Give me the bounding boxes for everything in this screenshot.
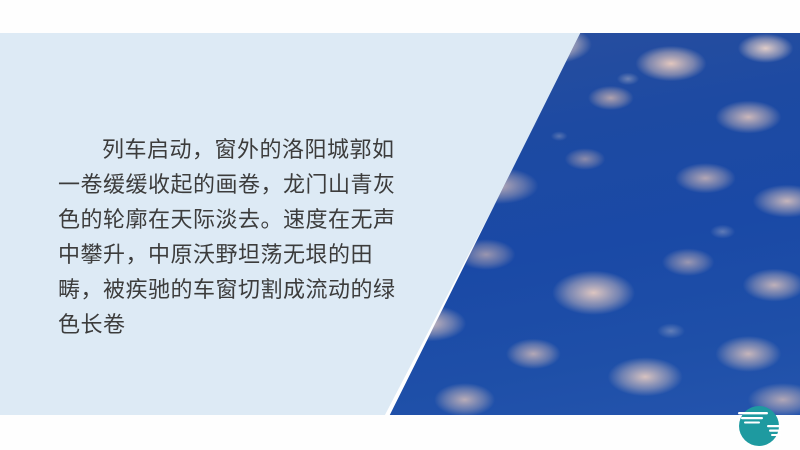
teal-circle-logo	[737, 404, 783, 450]
body-paragraph: 列车启动，窗外的洛阳城郭如一卷缓缓收起的画卷，龙门山青灰色的轮廓在天际淡去。速度…	[58, 132, 410, 342]
slide-canvas: 列车启动，窗外的洛阳城郭如一卷缓缓收起的画卷，龙门山青灰色的轮廓在天际淡去。速度…	[0, 0, 800, 450]
